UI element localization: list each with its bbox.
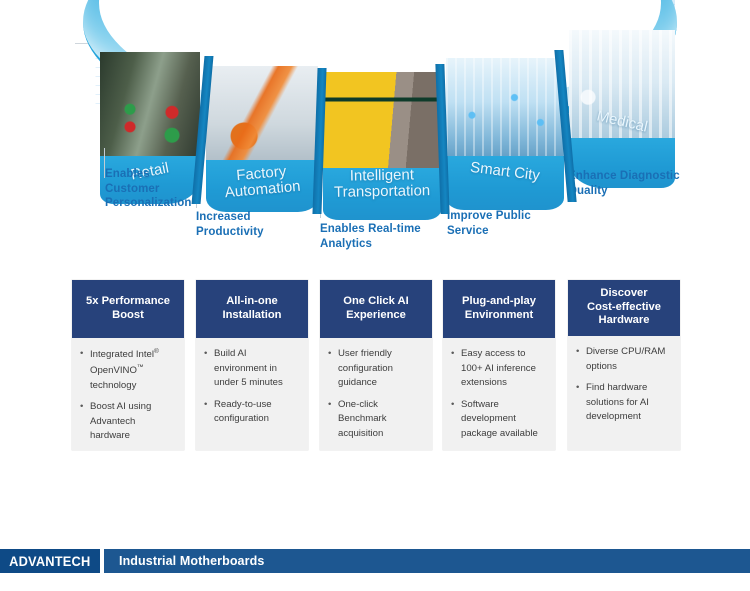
card-title: Discover Cost-effective Hardware	[568, 280, 680, 336]
ribbon-segment-factory[interactable]: Factory Automation	[206, 66, 318, 212]
card-title: 5x Performance Boost	[72, 280, 184, 338]
bullet-icon: •	[576, 381, 579, 396]
callout-transportation: Enables Real-time Analytics	[320, 222, 421, 251]
card-body: •Easy access to 100+ AI inference extens…	[443, 338, 555, 451]
bullet-icon: •	[80, 347, 83, 362]
bullet-text-2-0: User friendly configuration guidance	[338, 348, 393, 388]
bullet-icon: •	[204, 398, 207, 413]
bullet-icon: •	[328, 398, 331, 413]
feature-card-installation[interactable]: All-in-one Installation •Build AI enviro…	[196, 280, 308, 450]
list-item: •Diverse CPU/RAM options	[586, 345, 673, 374]
bullet-text-1-1: Ready-to-use configuration	[214, 399, 272, 425]
factory-photo	[206, 66, 318, 166]
bullet-text-0-1: Boost AI using Advantech hardware	[90, 401, 151, 441]
feature-card-performance[interactable]: 5x Performance Boost •Integrated Intel® …	[72, 280, 184, 450]
ribbon-label-transportation: Intelligent Transportation	[323, 167, 441, 201]
smartcity-photo	[446, 58, 564, 162]
list-item: •Find hardware solutions for AI developm…	[586, 381, 673, 425]
footer-bar: ADVANTECH Industrial Motherboards	[0, 549, 750, 573]
ribbon-segment-smartcity[interactable]: Smart City	[446, 58, 564, 210]
ribbon-segment-medical[interactable]: Medical	[569, 30, 675, 188]
retail-photo	[100, 52, 200, 156]
card-body: •Diverse CPU/RAM options •Find hardware …	[568, 336, 680, 435]
bullet-text-0-0: Integrated Intel® OpenVINO™ technology	[90, 349, 159, 390]
footer-title: Industrial Motherboards	[119, 554, 264, 568]
bullet-text-1-0: Build AI environment in under 5 minutes	[214, 348, 283, 388]
callout-medical: Enhance Diagnostic Quality	[568, 169, 680, 198]
bullet-text-3-0: Easy access to 100+ AI inference extensi…	[461, 348, 536, 388]
card-body: •User friendly configuration guidance •O…	[320, 338, 432, 451]
bullet-text-4-0: Diverse CPU/RAM options	[586, 346, 665, 372]
callout-factory: Increased Productivity	[196, 210, 264, 239]
bullet-text-3-1: Software development package available	[461, 399, 538, 439]
card-bullet-list: •User friendly configuration guidance •O…	[325, 347, 425, 441]
bullet-icon: •	[328, 347, 331, 362]
callout-retail: Enables Customer Personalization	[105, 167, 192, 211]
bullet-icon: •	[576, 345, 579, 360]
callout-smartcity: Improve Public Service	[447, 209, 531, 238]
ribbon-segment-transportation[interactable]: Intelligent Transportation	[323, 72, 441, 220]
card-bullet-list: •Build AI environment in under 5 minutes…	[201, 347, 301, 427]
registered-mark: ®	[154, 348, 159, 355]
card-bullet-list: •Easy access to 100+ AI inference extens…	[448, 347, 548, 441]
list-item: •Integrated Intel® OpenVINO™ technology	[90, 347, 177, 393]
card-title: All-in-one Installation	[196, 280, 308, 338]
list-item: •Easy access to 100+ AI inference extens…	[461, 347, 548, 391]
feature-card-oneclick[interactable]: One Click AI Experience •User friendly c…	[320, 280, 432, 450]
bullet-text-2-1: One-click Benchmark acquisition	[338, 399, 387, 439]
list-item: •Build AI environment in under 5 minutes	[214, 347, 301, 391]
card-title: Plug-and-play Environment	[443, 280, 555, 338]
bullet-icon: •	[80, 400, 83, 415]
trademark-mark: ™	[137, 364, 144, 371]
footer-title-bar: Industrial Motherboards	[104, 549, 750, 573]
feature-card-costeffective[interactable]: Discover Cost-effective Hardware •Divers…	[568, 280, 680, 450]
card-body: •Integrated Intel® OpenVINO™ technology …	[72, 338, 184, 454]
advantech-logo[interactable]: ADVANTECH	[0, 549, 100, 573]
list-item: •User friendly configuration guidance	[338, 347, 425, 391]
list-item: •Ready-to-use configuration	[214, 398, 301, 427]
advantech-wordmark: ADVANTECH	[9, 554, 90, 569]
feature-card-plugandplay[interactable]: Plug-and-play Environment •Easy access t…	[443, 280, 555, 450]
hero-banner: 5G Retail Factory Automation Intelligent…	[0, 0, 750, 262]
bullet-icon: •	[204, 347, 207, 362]
card-bullet-list: •Integrated Intel® OpenVINO™ technology …	[77, 347, 177, 444]
transportation-photo	[323, 72, 441, 170]
bullet-icon: •	[451, 398, 454, 413]
bullet-text-4-1: Find hardware solutions for AI developme…	[586, 382, 649, 422]
card-bullet-list: •Diverse CPU/RAM options •Find hardware …	[573, 345, 673, 425]
list-item: •Software development package available	[461, 398, 548, 442]
bullet-icon: •	[451, 347, 454, 362]
list-item: •Boost AI using Advantech hardware	[90, 400, 177, 444]
list-item: •One-click Benchmark acquisition	[338, 398, 425, 442]
card-body: •Build AI environment in under 5 minutes…	[196, 338, 308, 437]
card-title: One Click AI Experience	[320, 280, 432, 338]
